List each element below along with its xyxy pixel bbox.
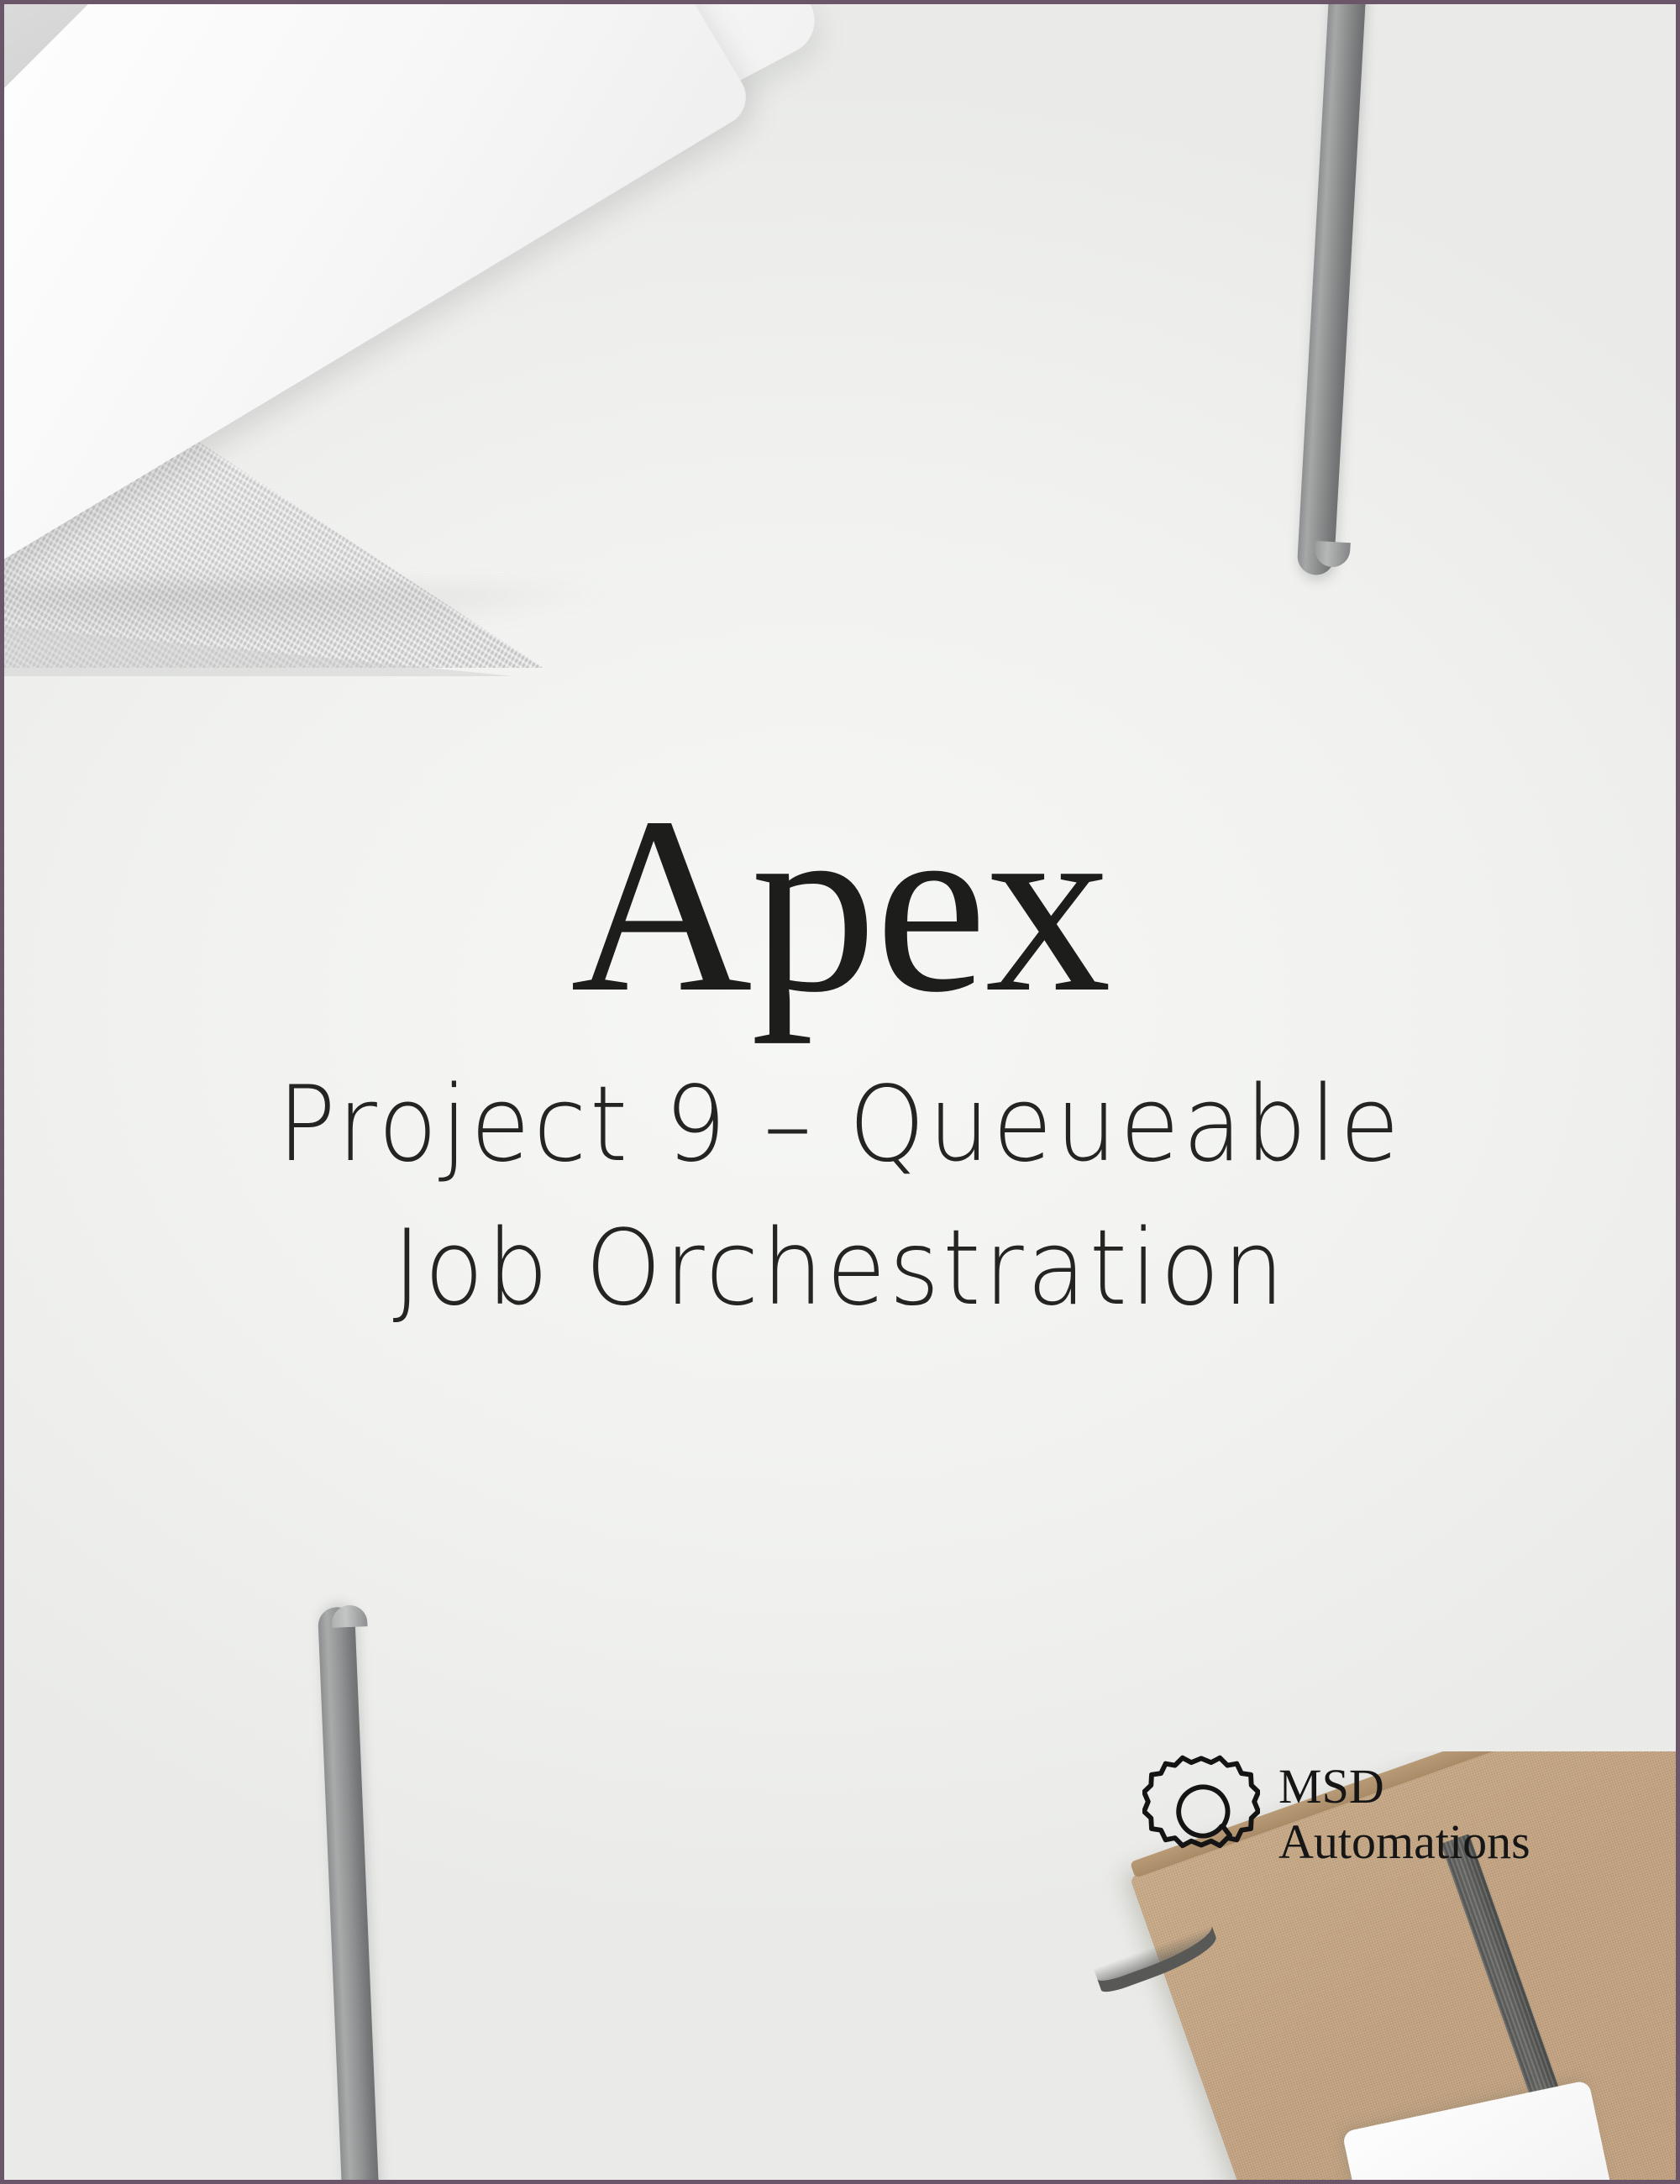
page-subtitle-line-2: Job Orchestration [90, 1197, 1590, 1341]
gear-icon [1142, 1751, 1260, 1877]
page-subtitle: Project 9 – Queueable Job Orchestration [90, 1053, 1590, 1341]
brand-name: MSD Automations [1278, 1759, 1530, 1870]
document-cover-page: Apex Project 9 – Queueable Job Orchestra… [0, 0, 1680, 2184]
brand-logo: MSD Automations [1142, 1751, 1530, 1877]
page-subtitle-line-1: Project 9 – Queueable [90, 1053, 1590, 1197]
page-title: Apex [4, 785, 1676, 1025]
brand-name-line-2: Automations [1278, 1814, 1530, 1870]
felt-sleeve-shadow [4, 584, 609, 643]
cover-title-block: Apex Project 9 – Queueable Job Orchestra… [4, 785, 1676, 1341]
brand-name-line-1: MSD [1278, 1759, 1530, 1814]
